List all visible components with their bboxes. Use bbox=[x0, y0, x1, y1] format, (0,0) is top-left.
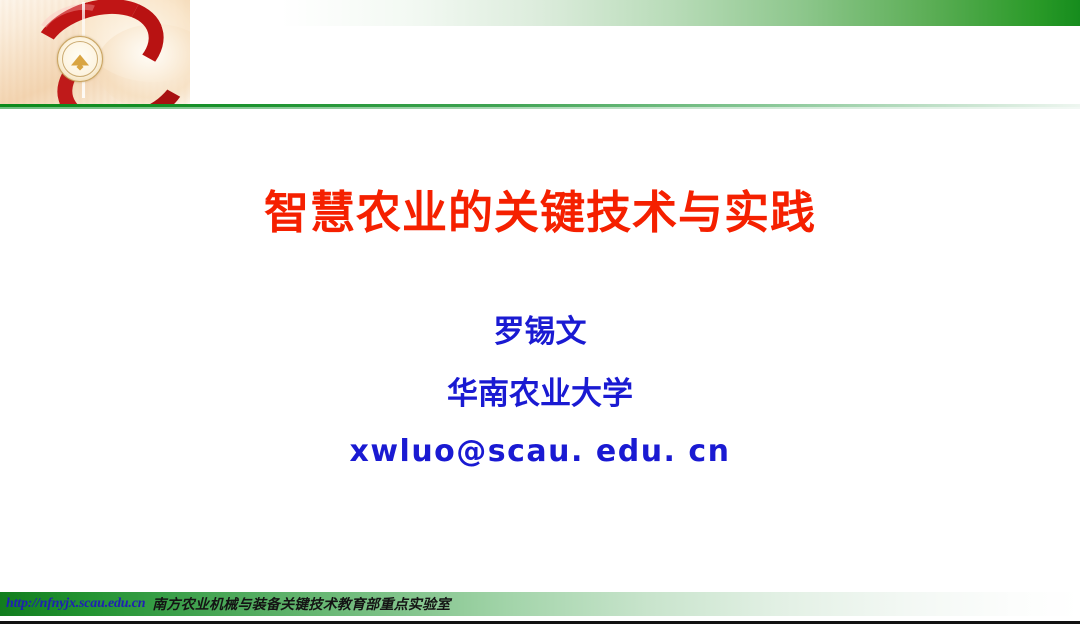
footer-laboratory-name: 南方农业机械与装备关键技术教育部重点实验室 bbox=[152, 594, 450, 614]
slide-title: 智慧农业的关键技术与实践 bbox=[0, 187, 1080, 239]
university-seal-icon bbox=[57, 36, 103, 82]
presenter-email: xwluo@scau. edu. cn bbox=[0, 434, 1080, 469]
slide-body: 智慧农业的关键技术与实践 罗锡文 华南农业大学 xwluo@scau. edu.… bbox=[0, 108, 1080, 586]
footer-website-link[interactable]: http://nfnyjx.scau.edu.cn bbox=[6, 596, 145, 612]
university-logo bbox=[0, 0, 190, 104]
presenter-name: 罗锡文 bbox=[0, 306, 1080, 351]
presentation-slide: 智慧农业的关键技术与实践 罗锡文 华南农业大学 xwluo@scau. edu.… bbox=[0, 0, 1080, 624]
footer-bar: http://nfnyjx.scau.edu.cn 南方农业机械与装备关键技术教… bbox=[0, 592, 1080, 616]
presenter-affiliation: 华南农业大学 bbox=[0, 368, 1080, 413]
